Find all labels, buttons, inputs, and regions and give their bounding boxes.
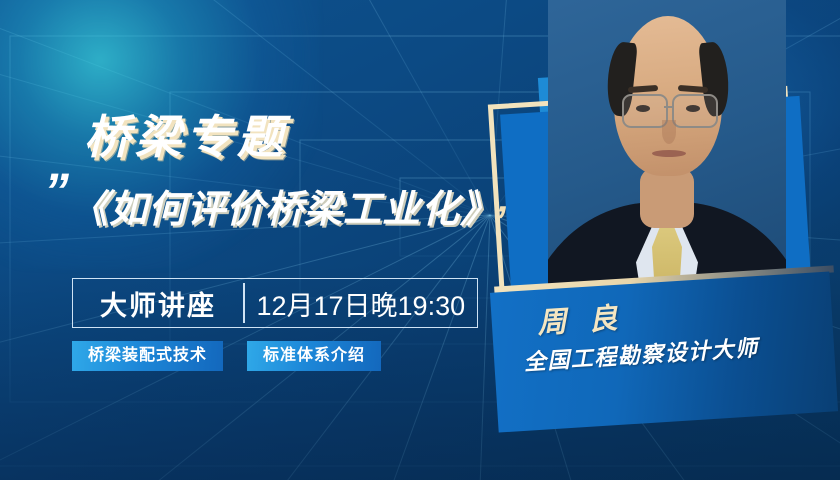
lecture-type-label: 大师讲座 xyxy=(73,279,243,327)
topic-tag-list: 桥梁装配式技术 标准体系介绍 xyxy=(72,341,381,371)
speaker-composition: 周 良 全国工程勘察设计大师 xyxy=(486,0,840,480)
portrait-mouth xyxy=(652,150,686,157)
speaker-name-block: 周 良 全国工程勘察设计大师 xyxy=(536,286,759,376)
portrait-neck xyxy=(640,168,694,228)
quote-open-mark: ” xyxy=(44,166,69,216)
lecture-datetime: 12月17日晚19:30 xyxy=(245,279,477,327)
page-title: 桥梁专题 xyxy=(84,101,288,167)
topic-tag: 桥梁装配式技术 xyxy=(72,341,223,371)
portrait-glasses-bridge xyxy=(664,106,674,108)
portrait-nose xyxy=(662,120,676,144)
lecture-info-box: 大师讲座 12月17日晚19:30 xyxy=(72,278,478,328)
page-subtitle: 《如何评价桥梁工业化》 xyxy=(70,178,499,233)
portrait-glasses-right xyxy=(672,94,718,128)
topic-tag: 标准体系介绍 xyxy=(247,341,381,371)
poster-canvas: 桥梁专题 ” 《如何评价桥梁工业化》 ” 大师讲座 12月17日晚19:30 桥… xyxy=(0,0,840,480)
left-content-column: 桥梁专题 ” 《如何评价桥梁工业化》 ” 大师讲座 12月17日晚19:30 桥… xyxy=(0,0,520,480)
